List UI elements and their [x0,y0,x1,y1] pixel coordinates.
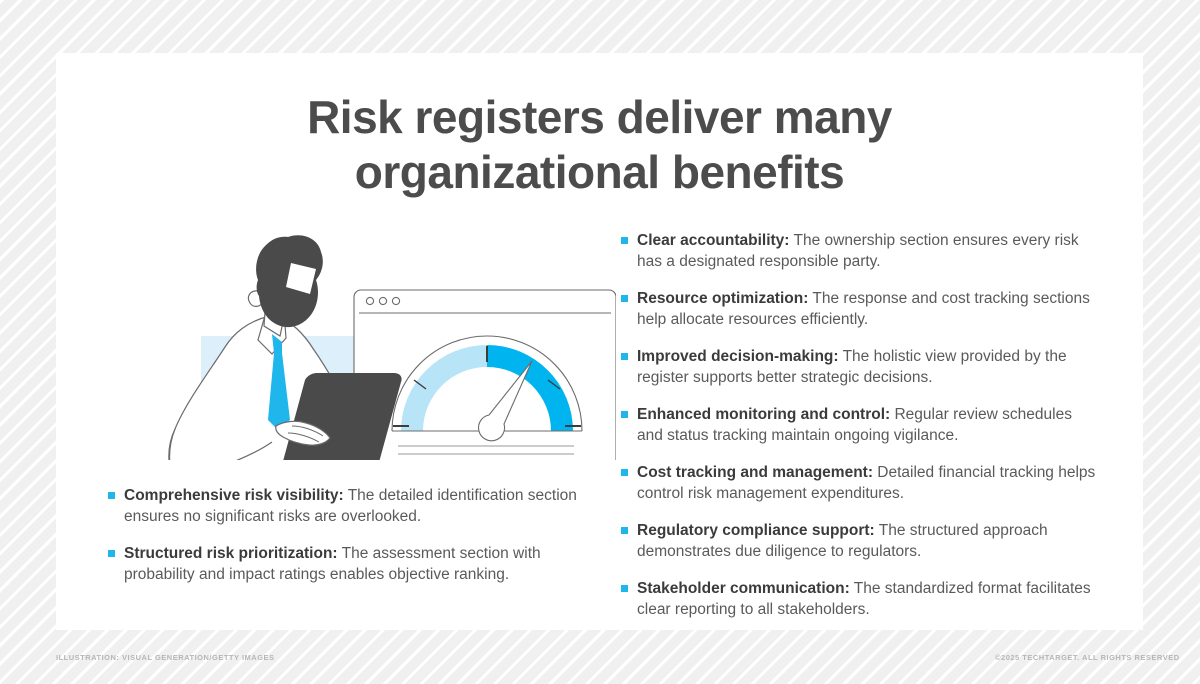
page-title-line-1: Risk registers deliver many [56,90,1143,145]
list-item-label: Structured risk prioritization: [124,545,338,562]
benefits-list-left: Comprehensive risk visibility: The detai… [108,486,608,585]
list-item-label: Resource optimization: [637,290,808,307]
page-title: Risk registers deliver many organization… [56,90,1143,200]
bullet-square-icon [621,237,628,244]
bullet-square-icon [621,295,628,302]
list-item-label: Improved decision-making: [637,348,839,365]
bullet-square-icon [108,550,115,557]
copyright-notice: ©2025 TECHTARGET. ALL RIGHTS RESERVED [995,653,1180,662]
list-item-label: Stakeholder communication: [637,580,850,597]
list-item-label: Enhanced monitoring and control: [637,406,890,423]
list-item: Enhanced monitoring and control: Regular… [621,405,1096,446]
illustration [106,230,616,460]
bullet-square-icon [108,492,115,499]
list-item: Comprehensive risk visibility: The detai… [108,486,608,527]
list-item-label: Cost tracking and management: [637,464,873,481]
list-item: Structured risk prioritization: The asse… [108,544,608,585]
bullet-square-icon [621,353,628,360]
list-item-label: Regulatory compliance support: [637,522,875,539]
list-item: Clear accountability: The ownership sect… [621,231,1096,272]
list-item: Stakeholder communication: The standardi… [621,579,1096,620]
list-item-label: Clear accountability: [637,232,789,249]
infographic-card: Risk registers deliver many organization… [56,53,1143,630]
benefits-list-right: Clear accountability: The ownership sect… [621,231,1096,620]
bullet-square-icon [621,585,628,592]
list-item: Resource optimization: The response and … [621,289,1096,330]
list-item: Cost tracking and management: Detailed f… [621,463,1096,504]
bullet-square-icon [621,411,628,418]
illustration-credit: ILLUSTRATION: VISUAL GENERATION/GETTY IM… [56,653,275,662]
bullet-square-icon [621,469,628,476]
list-item: Regulatory compliance support: The struc… [621,521,1096,562]
list-item-label: Comprehensive risk visibility: [124,487,344,504]
bullet-square-icon [621,527,628,534]
page-title-line-2: organizational benefits [56,145,1143,200]
list-item: Improved decision-making: The holistic v… [621,347,1096,388]
